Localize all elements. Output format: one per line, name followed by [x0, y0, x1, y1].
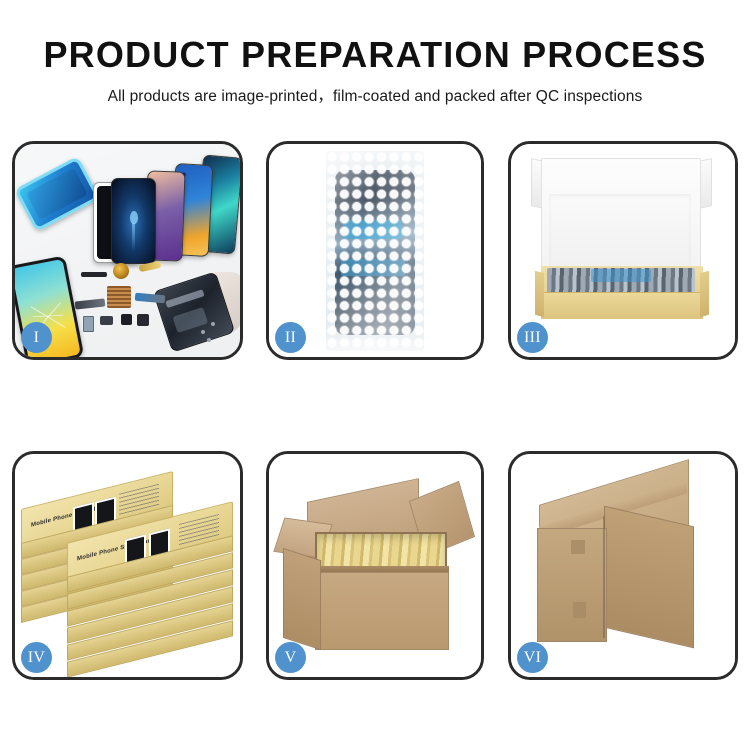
stacked-boxes-icon: Mobile Phone Spare Parts Mobile P	[15, 454, 240, 677]
phone-screen-dark	[111, 178, 156, 264]
flex-cable-icon-a	[75, 298, 106, 309]
mailer-tray-front	[541, 292, 703, 319]
step-panel-6: VI	[508, 451, 738, 680]
step-badge-5: V	[275, 642, 306, 673]
vibration-coil-icon	[113, 263, 129, 279]
screw-icon-3	[207, 338, 211, 342]
adhesive-frame-icon	[15, 156, 100, 232]
step-badge-4: IV	[21, 642, 52, 673]
open-carton-icon	[269, 454, 481, 677]
carton-notch-top	[571, 540, 585, 554]
step-panel-1: I	[12, 141, 243, 360]
mailer-tray-side-right	[700, 271, 709, 318]
carton-left-face	[283, 548, 321, 650]
foam-insert	[549, 194, 691, 272]
sealed-carton-icon	[511, 454, 735, 677]
plastic-sheen	[326, 151, 424, 351]
phone-parts-icon	[15, 144, 240, 357]
screw-icon-1	[201, 330, 205, 334]
step-panel-3: III	[508, 141, 738, 360]
antenna-bar-icon	[81, 272, 107, 277]
product-preparation-infographic: PRODUCT PREPARATION PROCESS All products…	[0, 0, 750, 750]
step-panel-2: II	[266, 141, 484, 360]
step-badge-2: II	[275, 322, 306, 353]
step-panel-4: Mobile Phone Spare Parts Mobile P	[12, 451, 243, 680]
carton-corner-seam	[603, 516, 605, 638]
speaker-mesh-icon	[107, 286, 131, 308]
step-badge-6: VI	[517, 642, 548, 673]
camera-module-icon	[121, 314, 132, 325]
bubble-wrap-pouch	[326, 151, 424, 351]
mailer-tray-side-left	[535, 271, 544, 318]
wrapped-items-in-tray	[547, 268, 695, 294]
mailer-box-icon	[511, 144, 735, 357]
sim-tray-icon	[83, 316, 94, 332]
step-panel-5: V	[266, 451, 484, 680]
carton-front-face	[315, 572, 449, 650]
speaker-part-icon	[137, 314, 149, 326]
steps-grid: I II	[0, 0, 750, 750]
step-badge-1: I	[21, 322, 52, 353]
button-part-icon	[100, 316, 113, 325]
flex-cable-icon-b	[135, 293, 166, 304]
carton-notch-bottom	[573, 602, 586, 618]
sealed-carton-right-face	[604, 506, 694, 649]
screw-icon-2	[211, 322, 215, 326]
step-badge-3: III	[517, 322, 548, 353]
